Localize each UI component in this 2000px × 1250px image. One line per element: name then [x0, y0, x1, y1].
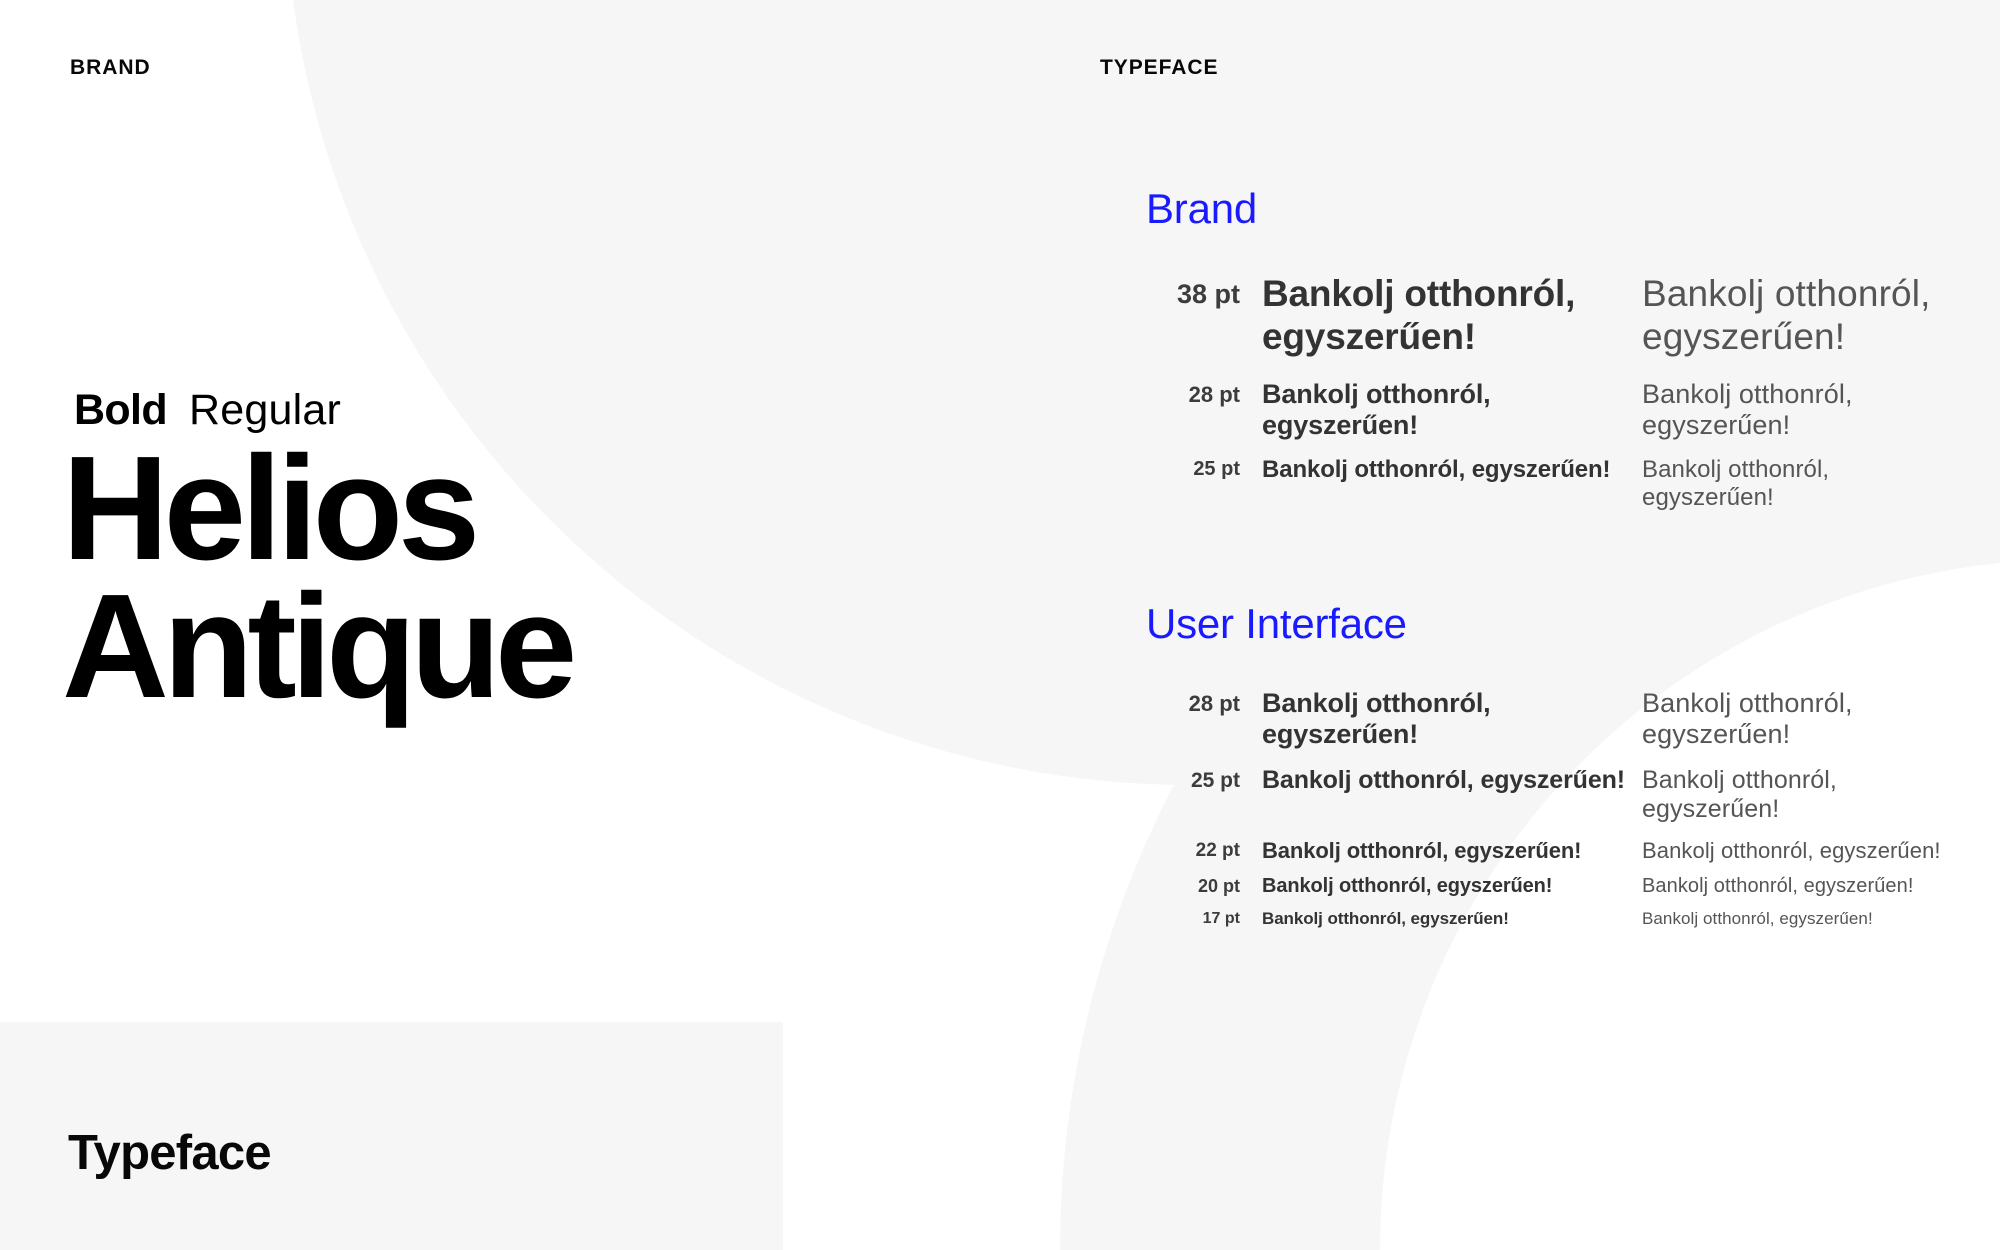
- specimen-size-label: 25 pt: [1146, 456, 1262, 484]
- specimen-sample-bold: Bankolj otthonról, egyszerűen!: [1262, 379, 1642, 442]
- specimen-sample-regular: Bankolj otthonról, egyszerűen!: [1642, 273, 1966, 359]
- specimen-sample-bold: Bankolj otthonról, egyszerűen!: [1262, 909, 1642, 929]
- specimen-sample-bold: Bankolj otthonról, egyszerűen!: [1262, 766, 1642, 795]
- specimen-page: BRAND BoldRegular Helios Antique Typefac…: [0, 0, 2000, 1250]
- specimen-sample-regular: Bankolj otthonról, egyszerűen!: [1642, 379, 1966, 442]
- specimen-table: 28 ptBankolj otthonról, egyszerűen!Banko…: [1146, 688, 1966, 929]
- section-title: User Interface: [1146, 600, 1966, 648]
- specimen-size-label: 28 pt: [1146, 688, 1262, 719]
- specimen-size-label: 28 pt: [1146, 379, 1262, 410]
- specimen-size-label: 17 pt: [1146, 909, 1262, 929]
- specimen-sample-bold: Bankolj otthonról, egyszerűen!: [1262, 273, 1642, 359]
- specimen-sample-regular: Bankolj otthonról, egyszerűen!: [1642, 688, 1966, 751]
- specimen-row: 25 ptBankolj otthonról, egyszerűen!Banko…: [1146, 456, 1966, 512]
- specimen-row: 28 ptBankolj otthonról, egyszerűen!Banko…: [1146, 379, 1966, 442]
- specimen-section-user-interface: User Interface 28 ptBankolj otthonról, e…: [1146, 600, 1966, 939]
- specimen-row: 25 ptBankolj otthonról, egyszerűen!Banko…: [1146, 766, 1966, 824]
- specimen-row: 28 ptBankolj otthonról, egyszerűen!Banko…: [1146, 688, 1966, 751]
- specimen-size-label: 38 pt: [1146, 273, 1262, 316]
- specimen-sample-regular: Bankolj otthonról, egyszerűen!: [1642, 766, 1966, 824]
- wordmark-line-1: Helios: [62, 440, 571, 578]
- specimen-size-label: 25 pt: [1146, 766, 1262, 795]
- specimen-sample-regular: Bankolj otthonról, egyszerűen!: [1642, 909, 1966, 929]
- specimen-section-brand: Brand 38 ptBankolj otthonról, egyszerűen…: [1146, 185, 1966, 525]
- specimen-sample-regular: Bankolj otthonról, egyszerűen!: [1642, 456, 1966, 512]
- specimen-sample-regular: Bankolj otthonról, egyszerűen!: [1642, 838, 1966, 864]
- specimen-sample-bold: Bankolj otthonról, egyszerűen!: [1262, 456, 1642, 484]
- specimen-sample-bold: Bankolj otthonról, egyszerűen!: [1262, 838, 1642, 864]
- specimen-row: 38 ptBankolj otthonról, egyszerűen!Banko…: [1146, 273, 1966, 359]
- specimen-table: 38 ptBankolj otthonról, egyszerűen!Banko…: [1146, 273, 1966, 512]
- section-title: Brand: [1146, 185, 1966, 233]
- specimen-size-label: 20 pt: [1146, 875, 1262, 898]
- specimen-size-label: 22 pt: [1146, 838, 1262, 864]
- wordmark-line-2: Antique: [62, 578, 571, 716]
- specimen-row: 17 ptBankolj otthonról, egyszerűen!Banko…: [1146, 909, 1966, 929]
- specimen-sample-regular: Bankolj otthonról, egyszerűen!: [1642, 875, 1966, 898]
- brand-eyebrow-label: BRAND: [70, 56, 151, 80]
- specimen-sample-bold: Bankolj otthonról, egyszerűen!: [1262, 875, 1642, 898]
- specimen-sample-bold: Bankolj otthonról, egyszerűen!: [1262, 688, 1642, 751]
- page-footer-title: Typeface: [68, 1125, 271, 1181]
- typeface-eyebrow-label: TYPEFACE: [1100, 56, 1218, 80]
- specimen-row: 22 ptBankolj otthonról, egyszerűen!Banko…: [1146, 838, 1966, 864]
- typeface-wordmark: Helios Antique: [62, 440, 571, 715]
- specimen-row: 20 ptBankolj otthonról, egyszerűen!Banko…: [1146, 875, 1966, 898]
